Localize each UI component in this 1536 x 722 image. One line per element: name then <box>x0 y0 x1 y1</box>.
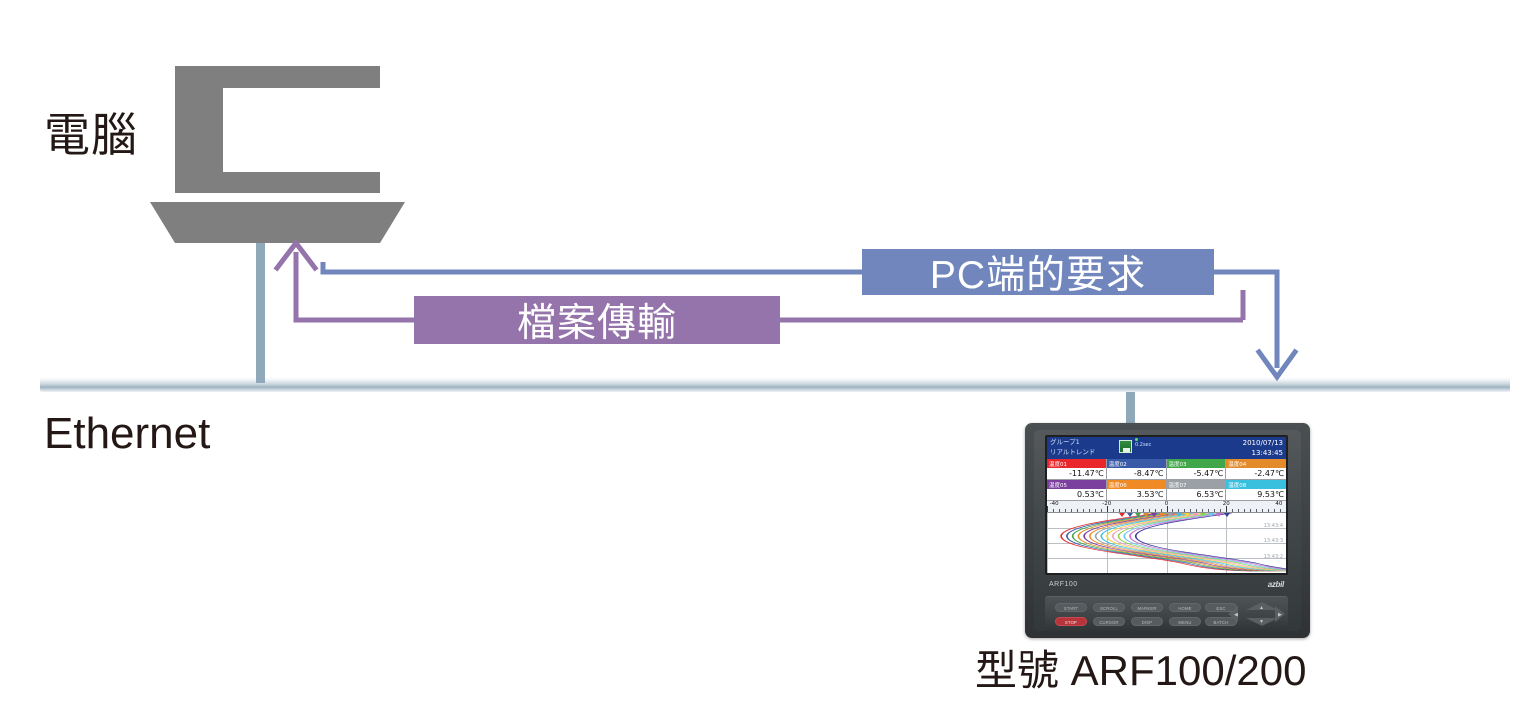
axis-minor-tick <box>1083 509 1084 512</box>
computer-label: 電腦 <box>44 112 138 158</box>
channel-cell: 温度02-8.47℃ <box>1107 459 1167 480</box>
channel-marker-icon <box>1159 513 1165 517</box>
dpad-down-glyph: ▼ <box>1259 620 1264 625</box>
channel-name: 温度03 <box>1167 459 1226 468</box>
dpad-up-glyph: ▲ <box>1259 606 1264 611</box>
axis-minor-tick <box>1262 509 1263 512</box>
channel-cell: 温度063.53℃ <box>1107 480 1167 501</box>
axis-minor-tick <box>1250 509 1251 512</box>
axis-minor-tick <box>1256 509 1257 512</box>
axis-minor-tick <box>1220 509 1221 512</box>
axis-minor-tick <box>1059 509 1060 512</box>
sample-interval: 0.2sec <box>1135 442 1151 448</box>
channel-markers <box>1047 513 1286 518</box>
axis-minor-tick <box>1101 509 1102 512</box>
channel-cell: 温度04-2.47℃ <box>1226 459 1286 480</box>
button-scroll[interactable]: SCROLL <box>1093 603 1125 612</box>
trend-plot-area: 13:43:413:43:313:43:2 <box>1047 513 1286 573</box>
channel-name: 温度04 <box>1226 459 1286 468</box>
channel-marker-icon <box>1135 513 1141 517</box>
axis-minor-tick <box>1184 509 1185 512</box>
trend-curves <box>1047 513 1286 573</box>
channel-cell: 温度089.53℃ <box>1226 480 1286 501</box>
channel-value: 6.53℃ <box>1167 489 1226 500</box>
channel-marker-icon <box>1224 513 1230 517</box>
ethernet-label: Ethernet <box>44 412 210 456</box>
channel-readout-grid: 温度01-11.47℃温度02-8.47℃温度03-5.47℃温度04-2.47… <box>1047 459 1286 501</box>
channel-value: 3.53℃ <box>1107 489 1166 500</box>
button-menu[interactable]: MENU <box>1169 617 1201 626</box>
axis-major-tick <box>1107 506 1108 512</box>
channel-marker-icon <box>1143 513 1149 517</box>
axis-minor-tick <box>1202 509 1203 512</box>
laptop-screen <box>223 88 383 172</box>
axis-minor-tick <box>1095 509 1096 512</box>
button-disp[interactable]: DISP <box>1131 617 1163 626</box>
button-home[interactable]: HOME <box>1169 603 1201 612</box>
channel-name: 温度07 <box>1167 480 1226 489</box>
flow-label-file-transfer: 檔案傳輸 <box>414 296 780 344</box>
channel-value: -11.47℃ <box>1047 468 1106 479</box>
channel-name: 温度05 <box>1047 480 1106 489</box>
axis-minor-tick <box>1274 509 1275 512</box>
recorder-screen: グループ1 リアルトレンド 0.2sec 2010/07/13 13:43:45… <box>1047 437 1286 573</box>
pc-network-drop-line <box>256 243 265 383</box>
axis-minor-tick <box>1161 509 1162 512</box>
axis-major-tick <box>1226 506 1227 512</box>
azbil-brand-logo: azbil <box>1268 580 1284 589</box>
channel-marker-icon <box>1216 513 1222 517</box>
trend-axis: -40-2002040 <box>1047 501 1286 513</box>
axis-minor-tick <box>1089 509 1090 512</box>
channel-marker-icon <box>1167 513 1173 517</box>
channel-marker-icon <box>1127 513 1133 517</box>
screen-header: グループ1 リアルトレンド 0.2sec 2010/07/13 13:43:45 <box>1047 437 1286 459</box>
recorder-device: グループ1 リアルトレンド 0.2sec 2010/07/13 13:43:45… <box>1025 423 1310 638</box>
channel-value: -8.47℃ <box>1107 468 1166 479</box>
axis-minor-tick <box>1131 509 1132 512</box>
button-stop[interactable]: STOP <box>1055 617 1087 626</box>
device-network-drop-line <box>1126 392 1135 424</box>
channel-marker-icon <box>1208 513 1214 517</box>
channel-marker-icon <box>1119 513 1125 517</box>
axis-minor-tick <box>1196 509 1197 512</box>
axis-major-tick <box>1167 506 1168 512</box>
laptop-lid <box>175 66 380 193</box>
channel-marker-icon <box>1200 513 1206 517</box>
recorder-bezel: グループ1 リアルトレンド 0.2sec 2010/07/13 13:43:45… <box>1034 430 1301 631</box>
channel-name: 温度02 <box>1107 459 1166 468</box>
axis-minor-tick <box>1119 509 1120 512</box>
dpad-right-glyph: ▶ <box>1278 613 1282 618</box>
axis-minor-tick <box>1077 509 1078 512</box>
status-dot-icon <box>1135 438 1138 441</box>
laptop-base <box>150 202 405 243</box>
recorder-screen-frame: グループ1 リアルトレンド 0.2sec 2010/07/13 13:43:45… <box>1045 435 1288 575</box>
axis-minor-tick <box>1155 509 1156 512</box>
channel-cell: 温度03-5.47℃ <box>1167 459 1227 480</box>
button-cursor[interactable]: CURSOR <box>1093 617 1125 626</box>
axis-major-tick <box>1047 506 1048 512</box>
recorder-button-panel: ▲ ▼ ◀ ▶ STARTSCROLLMARKERHOMEESCSTOPCURS… <box>1045 596 1288 631</box>
channel-name: 温度01 <box>1047 459 1106 468</box>
screen-title: グループ1 リアルトレンド <box>1050 438 1095 457</box>
flow-label-pc-request: PC端的要求 <box>862 249 1214 295</box>
axis-minor-tick <box>1244 509 1245 512</box>
button-start[interactable]: START <box>1055 603 1087 612</box>
axis-minor-tick <box>1178 509 1179 512</box>
axis-minor-tick <box>1208 509 1209 512</box>
channel-value: -2.47℃ <box>1226 468 1286 479</box>
model-strip: ARF100 azbil <box>1045 577 1288 594</box>
button-marker[interactable]: MARKER <box>1131 603 1163 612</box>
axis-minor-tick <box>1280 509 1281 512</box>
save-icon <box>1119 440 1132 453</box>
axis-minor-tick <box>1172 509 1173 512</box>
axis-minor-tick <box>1053 509 1054 512</box>
axis-minor-tick <box>1137 509 1138 512</box>
axis-minor-tick <box>1214 509 1215 512</box>
axis-minor-tick <box>1065 509 1066 512</box>
channel-value: -5.47℃ <box>1167 468 1226 479</box>
channel-value: 0.53℃ <box>1047 489 1106 500</box>
axis-minor-tick <box>1143 509 1144 512</box>
channel-name: 温度06 <box>1107 480 1166 489</box>
channel-cell: 温度076.53℃ <box>1167 480 1227 501</box>
channel-marker-icon <box>1176 513 1182 517</box>
button-esc[interactable]: ESC <box>1205 603 1237 612</box>
channel-marker-icon <box>1192 513 1198 517</box>
channel-cell: 温度01-11.47℃ <box>1047 459 1107 480</box>
axis-minor-tick <box>1125 509 1126 512</box>
channel-value: 9.53℃ <box>1226 489 1286 500</box>
axis-tick-label: -40 <box>1050 501 1059 507</box>
axis-tick-label: 40 <box>1275 501 1282 507</box>
channel-marker-icon <box>1151 513 1157 517</box>
axis-minor-tick <box>1232 509 1233 512</box>
screen-datetime: 2010/07/13 13:43:45 <box>1243 438 1283 458</box>
axis-minor-tick <box>1268 509 1269 512</box>
channel-marker-icon <box>1184 513 1190 517</box>
channel-cell: 温度050.53℃ <box>1047 480 1107 501</box>
channel-name: 温度08 <box>1226 480 1286 489</box>
axis-minor-tick <box>1149 509 1150 512</box>
axis-minor-tick <box>1113 509 1114 512</box>
model-name-label: ARF100 <box>1049 581 1078 588</box>
button-batch[interactable]: BATCH <box>1205 617 1237 626</box>
device-caption: 型號 ARF100/200 <box>975 650 1307 692</box>
axis-minor-tick <box>1071 509 1072 512</box>
axis-minor-tick <box>1190 509 1191 512</box>
axis-minor-tick <box>1238 509 1239 512</box>
